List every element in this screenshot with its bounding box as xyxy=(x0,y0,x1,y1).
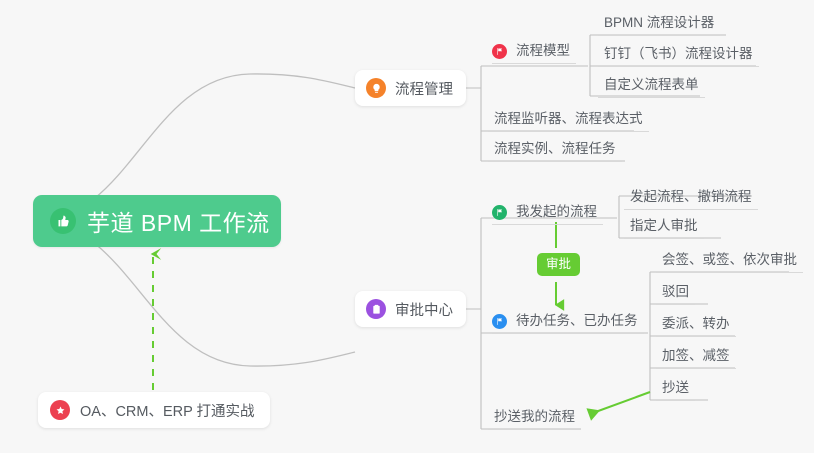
lightbulb-icon xyxy=(366,78,386,98)
leaf-add-remove-sign[interactable]: 加签、减签 xyxy=(656,347,736,369)
branch-label-process-management: 流程管理 xyxy=(395,78,453,99)
star-icon xyxy=(50,400,70,420)
branch-node-approval-center[interactable]: 审批中心 xyxy=(355,291,466,327)
leaf-dingtalk-designer[interactable]: 钉钉（飞书）流程设计器 xyxy=(598,45,759,67)
branch-label-approval-center: 审批中心 xyxy=(395,299,453,320)
clipboard-icon xyxy=(366,299,386,319)
leaf-countersign-modes[interactable]: 会签、或签、依次审批 xyxy=(656,251,803,273)
flag-icon xyxy=(492,205,507,220)
leaf-todo-done-tasks[interactable]: 待办任务、已办任务 xyxy=(492,312,644,334)
leaf-flows-copied-to-me[interactable]: 抄送我的流程 xyxy=(488,408,581,430)
leaf-assignee-approval[interactable]: 指定人审批 xyxy=(624,217,704,239)
leaf-custom-form[interactable]: 自定义流程表单 xyxy=(598,76,705,98)
flag-icon xyxy=(492,44,507,59)
leaf-reject[interactable]: 驳回 xyxy=(656,283,695,305)
leaf-bpmn-designer[interactable]: BPMN 流程设计器 xyxy=(598,14,720,36)
leaf-delegate-transfer[interactable]: 委派、转办 xyxy=(656,315,736,337)
approve-annotation-badge[interactable]: 审批 xyxy=(537,253,580,276)
flag-icon xyxy=(492,314,507,329)
leaf-process-listener[interactable]: 流程监听器、流程表达式 xyxy=(488,110,649,132)
leaf-my-initiated-flows[interactable]: 我发起的流程 xyxy=(492,203,603,225)
branch-node-process-management[interactable]: 流程管理 xyxy=(355,70,466,106)
arrow-copy-to-flow xyxy=(590,392,650,414)
mindmap-canvas: 芋道 BPM 工作流 流程管理 审批中心 流程模型 流程监听器、流程表达式 流程… xyxy=(0,0,814,453)
leaf-label: 流程模型 xyxy=(516,42,570,60)
leaf-process-model[interactable]: 流程模型 xyxy=(492,42,576,64)
leaf-carbon-copy[interactable]: 抄送 xyxy=(656,379,695,401)
root-label: 芋道 BPM 工作流 xyxy=(87,204,270,238)
root-node[interactable]: 芋道 BPM 工作流 xyxy=(33,195,281,247)
leaf-process-instance[interactable]: 流程实例、流程任务 xyxy=(488,140,622,162)
leaf-label: 我发起的流程 xyxy=(516,203,597,221)
note-card-integration-practice[interactable]: OA、CRM、ERP 打通实战 xyxy=(38,392,270,428)
leaf-label: 待办任务、已办任务 xyxy=(516,312,638,330)
note-card-label: OA、CRM、ERP 打通实战 xyxy=(80,400,255,421)
thumbs-up-icon xyxy=(50,208,76,234)
leaf-start-cancel-flow[interactable]: 发起流程、撤销流程 xyxy=(624,188,758,210)
